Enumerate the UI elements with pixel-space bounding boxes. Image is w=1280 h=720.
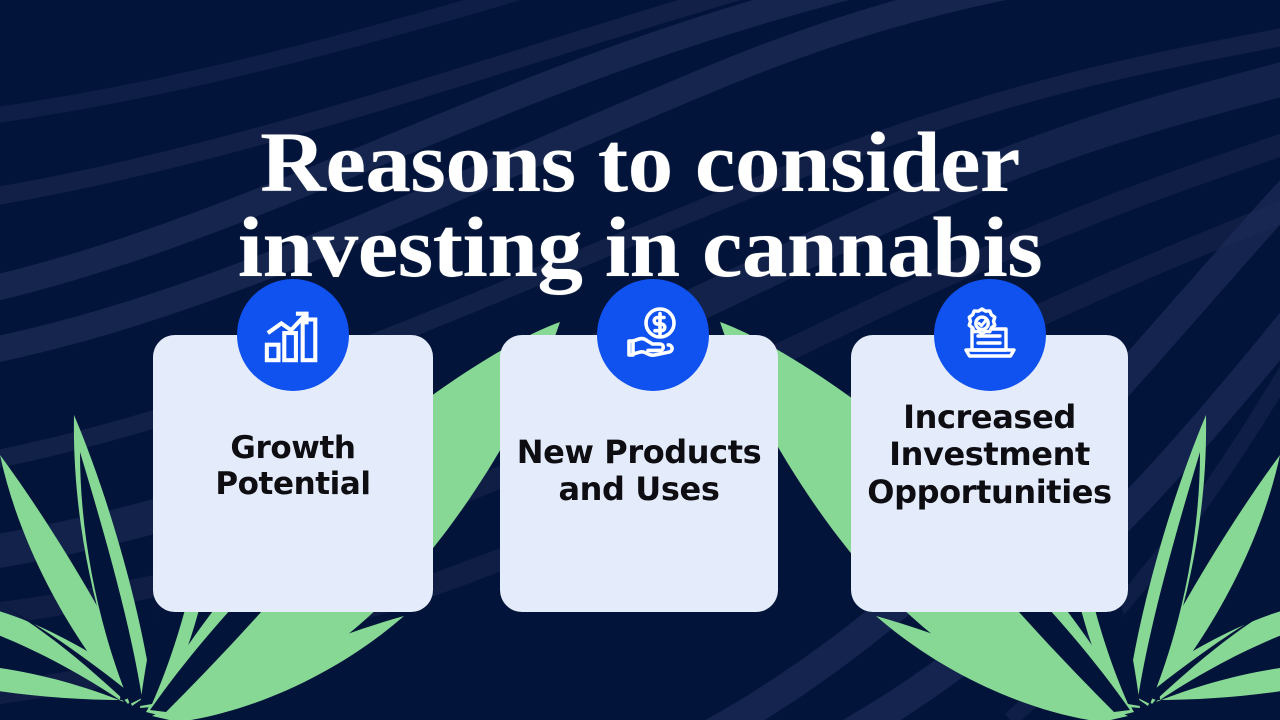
page-title: Reasons to consider investing in cannabi… (0, 120, 1280, 290)
reason-icon-badge-1 (237, 279, 349, 391)
slide-canvas: Reasons to consider investing in cannabi… (0, 0, 1280, 720)
reason-icon-badge-3 (934, 279, 1046, 391)
hand-holding-coin-icon (621, 303, 685, 367)
reason-icon-badge-2 (597, 279, 709, 391)
laptop-certificate-icon (958, 303, 1022, 367)
reason-card-label: Increased Investment Opportunities (840, 399, 1140, 511)
reason-card-label: Growth Potential (128, 430, 458, 503)
bar-chart-growth-icon (262, 304, 324, 366)
reason-card-label: New Products and Uses (474, 434, 804, 509)
